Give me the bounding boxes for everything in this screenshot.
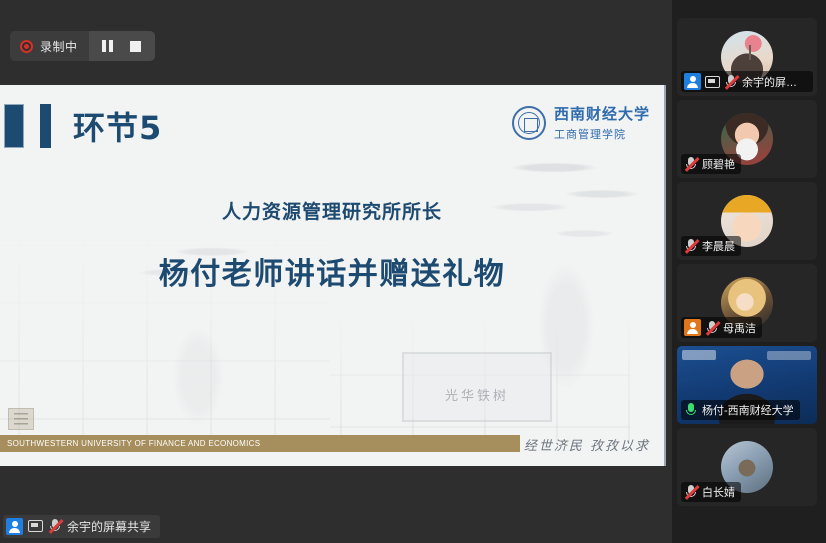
participant-label: 李晨晨 bbox=[681, 236, 741, 256]
title-accent-bar-small bbox=[40, 104, 51, 148]
participant-name: 李晨晨 bbox=[702, 238, 735, 254]
participant-label: 顾碧艳 bbox=[681, 154, 741, 174]
mic-muted-icon bbox=[705, 320, 719, 336]
mic-muted-icon bbox=[724, 74, 738, 90]
participant-tile[interactable]: 杨付-西南财经大学 bbox=[677, 346, 817, 424]
participant-name: 白长婧 bbox=[702, 484, 735, 500]
pause-icon bbox=[102, 40, 113, 52]
slide-headline: 杨付老师讲话并赠送礼物 bbox=[0, 249, 664, 293]
title-accent-bar-large bbox=[4, 104, 24, 148]
participant-label: 白长婧 bbox=[681, 482, 741, 502]
slide-title: 环节5 bbox=[73, 103, 162, 149]
recording-status: 录制中 bbox=[10, 31, 89, 61]
screen-share-label: 余宇的屏幕共享 bbox=[67, 518, 151, 535]
slide-subtitle: 人力资源管理研究所所长 bbox=[0, 197, 664, 224]
university-logo-text: 西南财经大学 工商管理学院 bbox=[554, 103, 650, 142]
recording-toolbar: 录制中 bbox=[10, 31, 155, 61]
participant-name: 顾碧艳 bbox=[702, 156, 735, 172]
university-seal-icon bbox=[512, 106, 546, 140]
screen-share-status-bar: 余宇的屏幕共享 bbox=[0, 509, 672, 543]
stone-monument-text: 光华铁树 bbox=[410, 385, 544, 404]
pause-recording-button[interactable] bbox=[95, 31, 121, 61]
record-dot-icon bbox=[20, 40, 33, 53]
participant-tile[interactable]: 余宇的屏幕共享 bbox=[677, 18, 817, 96]
university-logo: 西南财经大学 工商管理学院 bbox=[512, 103, 650, 142]
person-badge-icon bbox=[684, 73, 701, 90]
participant-label: 母禹洁 bbox=[681, 317, 762, 338]
mic-muted-icon bbox=[684, 156, 698, 172]
stop-icon bbox=[130, 41, 141, 52]
participant-tile[interactable]: 白长婧 bbox=[677, 428, 817, 506]
participant-tile[interactable]: 母禹洁 bbox=[677, 264, 817, 342]
shared-screen-region: 录制中 光华铁树 环节5 bbox=[0, 0, 672, 543]
mic-muted-icon bbox=[684, 238, 698, 254]
recording-controls bbox=[89, 31, 155, 61]
school-name: 工商管理学院 bbox=[554, 126, 650, 142]
stop-recording-button[interactable] bbox=[123, 31, 149, 61]
presentation-slide[interactable]: 光华铁树 环节5 西南财经大学 工商管理学院 人力资源管理研究所所长 杨付老师讲… bbox=[0, 85, 666, 466]
palm-tree-artwork-left bbox=[120, 205, 350, 465]
mic-on-icon bbox=[684, 402, 698, 418]
participant-name: 杨付-西南财经大学 bbox=[702, 402, 794, 418]
participant-tile[interactable]: 李晨晨 bbox=[677, 182, 817, 260]
host-badge-icon bbox=[684, 319, 701, 336]
participant-name: 余宇的屏幕共享 bbox=[742, 74, 807, 90]
person-badge-icon bbox=[6, 518, 23, 535]
mic-muted-icon bbox=[48, 518, 62, 534]
slide-title-row: 环节5 bbox=[0, 103, 162, 149]
screen-share-chip[interactable]: 余宇的屏幕共享 bbox=[3, 515, 160, 538]
meeting-window: 录制中 光华铁树 环节5 bbox=[0, 0, 826, 543]
mic-muted-icon bbox=[684, 484, 698, 500]
participant-label: 余宇的屏幕共享 bbox=[681, 71, 813, 92]
campus-gate-artwork bbox=[0, 204, 330, 444]
participant-tile[interactable]: 顾碧艳 bbox=[677, 100, 817, 178]
campus-archway-artwork bbox=[330, 292, 630, 442]
corner-watermark-icon bbox=[8, 408, 34, 430]
participant-name: 母禹洁 bbox=[723, 320, 756, 336]
slide-footer-text: SOUTHWESTERN UNIVERSITY OF FINANCE AND E… bbox=[0, 439, 260, 448]
recording-status-label: 录制中 bbox=[40, 38, 78, 55]
participant-label: 杨付-西南财经大学 bbox=[681, 400, 800, 420]
screen-share-icon bbox=[705, 76, 720, 88]
slide-motto-calligraphy: 经世济民 孜孜以求 bbox=[524, 435, 650, 454]
participant-filmstrip[interactable]: 余宇的屏幕共享 顾碧艳 李晨晨 bbox=[672, 0, 826, 543]
screen-share-icon bbox=[28, 520, 43, 532]
university-name: 西南财经大学 bbox=[554, 103, 650, 124]
slide-footer-bar: SOUTHWESTERN UNIVERSITY OF FINANCE AND E… bbox=[0, 435, 520, 452]
